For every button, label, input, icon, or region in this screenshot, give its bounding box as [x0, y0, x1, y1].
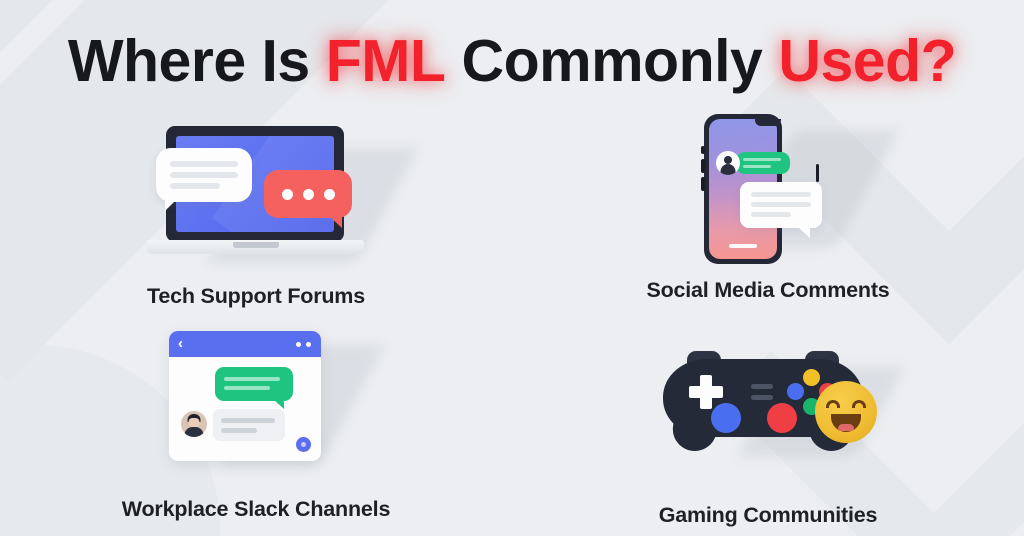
title-accent-fml: FML	[326, 28, 446, 94]
item-label-workplace-slack-channels: Workplace Slack Channels	[122, 497, 390, 522]
phone-side-button	[701, 159, 705, 173]
title-part-2: Commonly	[461, 28, 762, 94]
avatar-icon	[181, 411, 207, 437]
avatar-body	[721, 164, 736, 175]
gamepad-emoji-icon	[638, 337, 898, 497]
bubble-text-line	[170, 161, 238, 167]
chat-bubble-gray-icon	[213, 409, 285, 441]
typing-dot	[324, 189, 335, 200]
bubble-text-line	[221, 418, 275, 423]
item-label-social-media-comments: Social Media Comments	[646, 278, 889, 303]
action-button-yellow	[803, 369, 820, 386]
bubble-text-line	[751, 212, 791, 217]
grid-item-gaming-communities: Gaming Communities	[512, 317, 1024, 528]
send-button-icon	[296, 437, 311, 452]
phone-side-button	[701, 146, 705, 154]
bubble-text-line	[751, 202, 811, 207]
laptop-chat-icon	[126, 118, 386, 278]
gamepad-center-bar	[751, 384, 773, 389]
chat-window-titlebar: ‹	[169, 331, 321, 357]
bubble-text-line	[751, 192, 811, 197]
window-menu-dots-icon	[296, 342, 311, 347]
dpad-horizontal	[689, 386, 723, 398]
avatar-head	[724, 156, 732, 164]
title-question-mark: ?	[921, 28, 957, 94]
avatar-body	[185, 427, 204, 437]
phone-home-indicator	[729, 244, 757, 249]
bubble-text-line	[743, 165, 771, 168]
laptop-trackpad	[233, 242, 279, 248]
avatar-icon	[716, 151, 740, 175]
chat-bubble-white-icon	[740, 182, 822, 228]
grid-item-social-media-comments: Social Media Comments	[512, 108, 1024, 317]
bubble-text-line	[224, 386, 270, 390]
chat-window-card: ‹	[169, 331, 321, 461]
menu-dot	[306, 342, 311, 347]
bubble-text-line	[170, 183, 220, 189]
bubble-text-line	[743, 158, 781, 161]
grid-item-tech-support-forums: Tech Support Forums	[0, 108, 512, 317]
send-dot	[301, 442, 306, 447]
gamepad-center-bar	[751, 395, 773, 400]
emoji-mouth	[831, 414, 861, 432]
bubble-text-line	[224, 377, 280, 381]
grid-item-workplace-slack-channels: ‹	[0, 317, 512, 528]
smiling-face-emoji-icon	[815, 381, 877, 443]
menu-dot	[296, 342, 301, 347]
emoji-tongue	[838, 424, 854, 431]
chat-bubble-typing-icon	[264, 170, 352, 218]
page-title: Where IsFMLCommonlyUsed?	[0, 30, 1024, 92]
bubble-text-line	[170, 172, 238, 178]
action-button-blue	[787, 383, 804, 400]
analog-stick-right	[767, 403, 797, 433]
phone-power-button	[816, 164, 820, 182]
typing-dot	[303, 189, 314, 200]
analog-stick-left	[711, 403, 741, 433]
typing-dot	[282, 189, 293, 200]
phone-side-button	[701, 177, 705, 191]
chat-bubble-green-icon	[736, 152, 790, 174]
avatar-face	[189, 418, 200, 427]
phone-notch	[755, 119, 781, 126]
title-part-1: Where Is	[68, 28, 310, 94]
emoji-eye	[852, 400, 866, 408]
chat-bubble-white-icon	[156, 148, 252, 202]
back-chevron-icon: ‹	[178, 337, 192, 351]
item-label-gaming-communities: Gaming Communities	[659, 503, 878, 528]
bubble-text-line	[221, 428, 257, 433]
chat-bubble-green-icon	[215, 367, 293, 401]
title-accent-used: Used	[778, 28, 920, 94]
chat-window-icon: ‹	[126, 331, 386, 491]
usage-contexts-grid: Tech Support Forums	[0, 108, 1024, 528]
emoji-eye	[826, 400, 840, 408]
item-label-tech-support-forums: Tech Support Forums	[147, 284, 365, 309]
smartphone-chat-icon	[638, 112, 898, 272]
